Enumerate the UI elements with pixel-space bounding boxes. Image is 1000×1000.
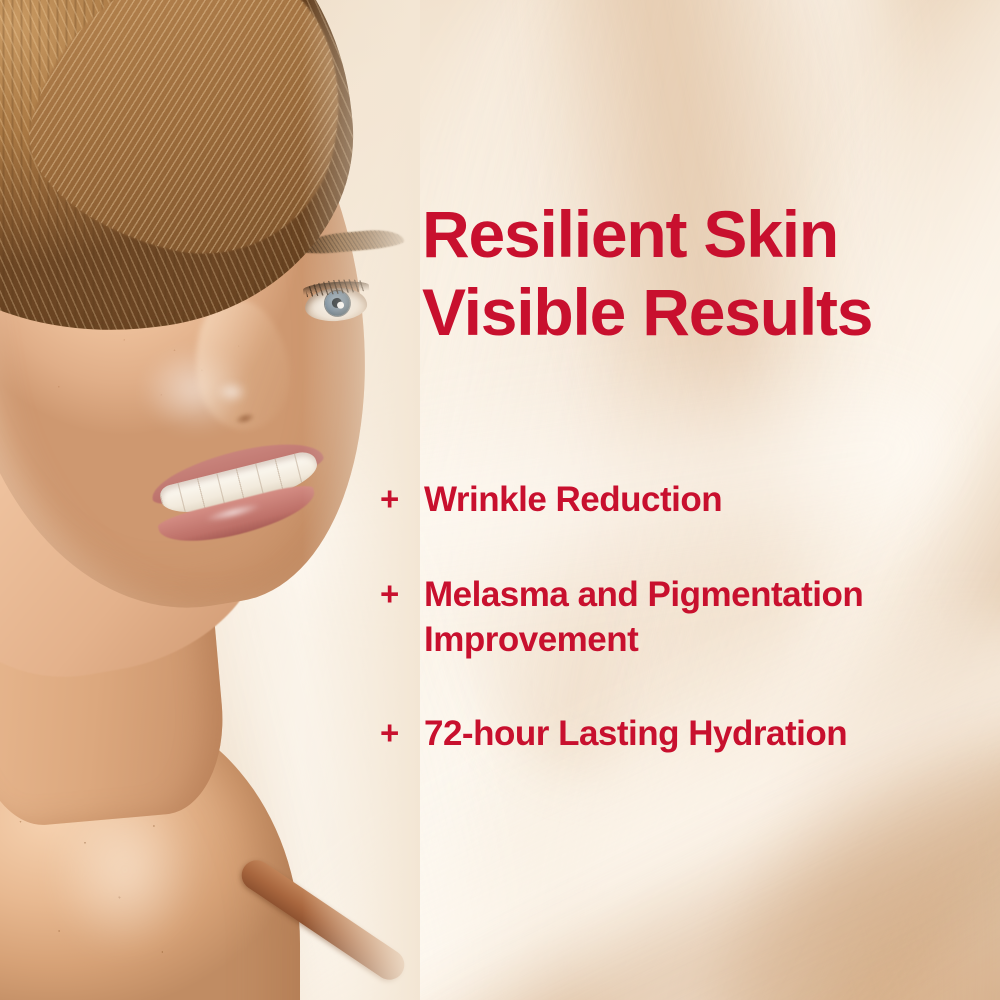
benefit-label: Melasma and Pigmentation Improvement bbox=[424, 573, 960, 663]
benefit-item-lasting-hydration: + 72-hour Lasting Hydration bbox=[380, 712, 960, 757]
plus-icon: + bbox=[380, 712, 424, 754]
model-portrait-image bbox=[0, 0, 420, 1000]
headline: Resilient Skin Visible Results bbox=[422, 196, 962, 352]
plus-icon: + bbox=[380, 573, 424, 615]
model-right-eye-glint bbox=[337, 301, 344, 308]
model-nose-highlight bbox=[212, 378, 252, 406]
skincare-ad-banner: Resilient Skin Visible Results + Wrinkle… bbox=[0, 0, 1000, 1000]
plus-icon: + bbox=[380, 478, 424, 520]
benefit-label: 72-hour Lasting Hydration bbox=[424, 712, 960, 757]
model-right-pupil bbox=[332, 298, 343, 309]
benefit-item-wrinkle-reduction: + Wrinkle Reduction bbox=[380, 478, 960, 523]
headline-line-2: Visible Results bbox=[422, 274, 962, 352]
benefit-label: Wrinkle Reduction bbox=[424, 478, 960, 523]
benefits-list: + Wrinkle Reduction + Melasma and Pigmen… bbox=[380, 478, 960, 757]
benefit-item-melasma-pigmentation: + Melasma and Pigmentation Improvement bbox=[380, 573, 960, 663]
headline-line-1: Resilient Skin bbox=[422, 196, 962, 274]
